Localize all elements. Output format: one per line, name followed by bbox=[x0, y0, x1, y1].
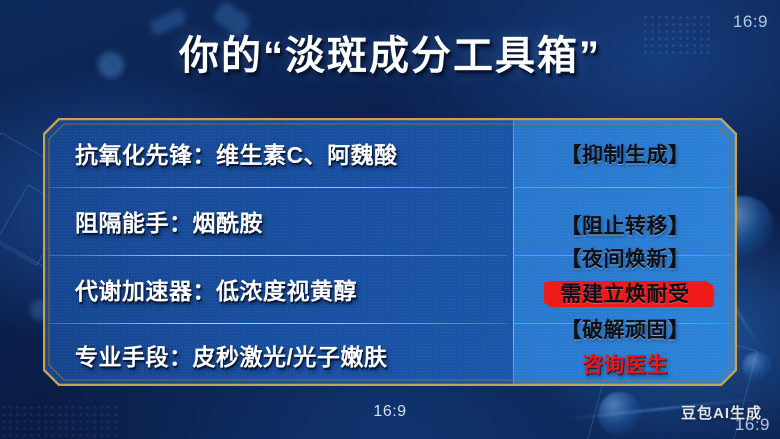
row-label: 代谢加速器：低浓度视黄醇 bbox=[43, 272, 357, 306]
effect-tag-label: 需建立焕耐受 bbox=[561, 283, 690, 306]
row-label: 专业手段：皮秒激光/光子嫩肤 bbox=[43, 338, 387, 372]
effect-tags: 【抑制生成】 【阻止转移】 【夜间焕新】 需建立焕耐受 【破解顽固】 咨询医生 bbox=[513, 118, 737, 386]
row-label: 抗氧化先锋：维生素C、阿魏酸 bbox=[43, 136, 398, 170]
effect-tag: 【阻止转移】 bbox=[513, 210, 737, 240]
effect-tag-warning: 咨询医生 bbox=[513, 349, 737, 379]
table-row[interactable]: 抗氧化先锋：维生素C、阿魏酸 bbox=[43, 118, 513, 187]
effect-tag: 【夜间焕新】 bbox=[513, 243, 737, 273]
aspect-ratio-bottom-center: 16:9 bbox=[0, 403, 780, 421]
table-row[interactable]: 代谢加速器：低浓度视黄醇 bbox=[43, 255, 513, 323]
highlight-marker: 需建立焕耐受 bbox=[551, 278, 700, 308]
effect-tag: 【破解顽固】 bbox=[513, 314, 737, 344]
table-row[interactable]: 阻隔能手：烟酰胺 bbox=[43, 187, 513, 255]
ingredient-rows: 抗氧化先锋：维生素C、阿魏酸 阻隔能手：烟酰胺 代谢加速器：低浓度视黄醇 专业手… bbox=[43, 118, 513, 386]
ingredient-toolbox-panel: 抗氧化先锋：维生素C、阿魏酸 阻隔能手：烟酰胺 代谢加速器：低浓度视黄醇 专业手… bbox=[43, 118, 737, 386]
table-row[interactable]: 专业手段：皮秒激光/光子嫩肤 bbox=[43, 323, 513, 386]
bokeh-dot bbox=[212, 0, 252, 38]
aspect-ratio-top-right: 16:9 bbox=[733, 12, 768, 32]
effect-tag: 【抑制生成】 bbox=[513, 139, 737, 169]
page-title: 你的“淡斑成分工具箱” bbox=[0, 34, 780, 78]
glow-orb bbox=[742, 352, 772, 382]
screenshot-canvas: 你的“淡斑成分工具箱” 抗氧化先锋：维生素C、阿魏酸 阻隔能手：烟酰胺 代谢加速… bbox=[0, 0, 780, 439]
ai-watermark: 豆包AI生成 bbox=[681, 402, 762, 423]
effect-tag-highlighted: 需建立焕耐受 bbox=[513, 278, 737, 308]
bokeh-dot bbox=[148, 7, 187, 37]
row-label: 阻隔能手：烟酰胺 bbox=[43, 204, 263, 238]
